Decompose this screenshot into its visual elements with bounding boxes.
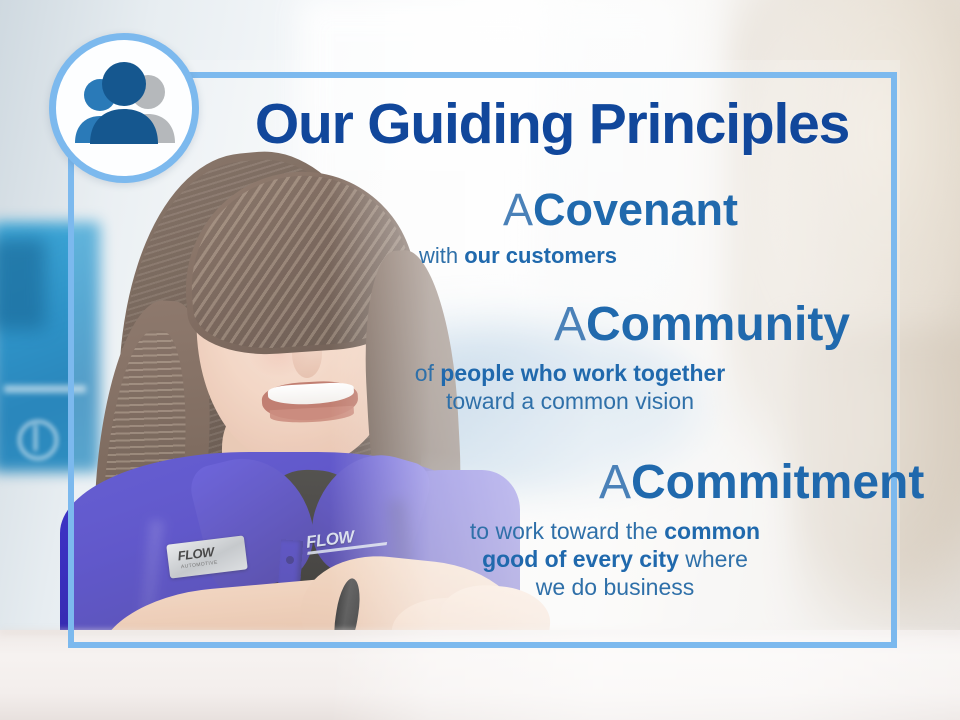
principle-heading: A Commitment (340, 458, 890, 508)
page-title: Our Guiding Principles (222, 96, 882, 153)
principle-heading: A Community (300, 300, 840, 350)
group-of-people-badge (49, 33, 199, 183)
car-brand-logo-icon (18, 420, 58, 460)
principle-subtext: to work toward the commongood of every c… (340, 517, 890, 601)
principle-block-community: A Community of people who work togethert… (300, 300, 840, 415)
showroom-display-panel-shadow (0, 238, 46, 330)
group-of-people-icon (56, 40, 192, 176)
guiding-principles-graphic: FLOW AUTOMOTIVE FLOW (0, 0, 960, 720)
principle-block-commitment: A Commitment to work toward the commongo… (340, 458, 890, 602)
principle-subtext: with our customers (248, 243, 788, 270)
principle-heading: A Covenant (248, 186, 788, 233)
principle-block-covenant: A Covenant with our customers (248, 186, 788, 270)
principle-subtext: of people who work togethertoward a comm… (300, 359, 840, 415)
